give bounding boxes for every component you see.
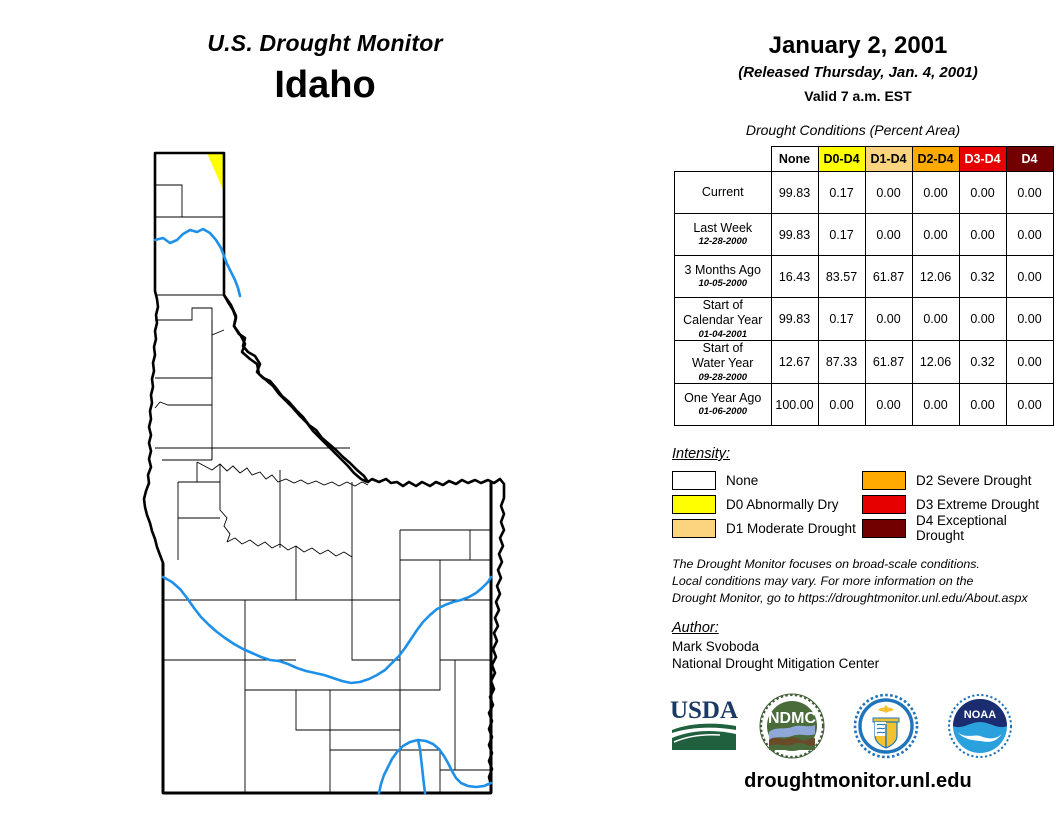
legend-swatch-d3 [862, 495, 906, 514]
drought-conditions-table: None D0-D4 D1-D4 D2-D4 D3-D4 D4 Current … [674, 146, 1054, 426]
column-header-none: None [771, 147, 818, 172]
idaho-map [100, 130, 600, 810]
legend-label: D2 Severe Drought [916, 473, 1032, 488]
legend-item-d2: D2 Severe Drought [862, 468, 1052, 492]
noaa-logo: NOAA [946, 692, 1014, 765]
row-label-text: Current [702, 185, 744, 199]
idaho-map-svg [100, 130, 600, 810]
row-label-date: 09-28-2000 [675, 372, 771, 384]
legend-column-left: None D0 Abnormally Dry D1 Moderate Droug… [672, 468, 862, 540]
disclaimer: The Drought Monitor focuses on broad-sca… [672, 556, 1052, 607]
cell-d4: 0.00 [1006, 298, 1053, 341]
ndmc-logo: NDMC [758, 692, 826, 765]
ndmc-logo-text: NDMC [768, 710, 816, 727]
cell-d4: 0.00 [1006, 384, 1053, 426]
row-label-date: 01-06-2000 [675, 406, 771, 418]
row-label-text: One Year Ago [684, 391, 761, 405]
row-label-3-months-ago: 3 Months Ago 10-05-2000 [675, 256, 772, 298]
cell-d0: 87.33 [818, 341, 865, 384]
table-row: Start ofCalendar Year 01-04-2001 99.83 0… [675, 298, 1054, 341]
intensity-legend: Intensity: None D0 Abnormally Dry D1 Mod… [672, 446, 1052, 540]
column-header-d0-d4: D0-D4 [818, 147, 865, 172]
row-label-start-of-calendar-year: Start ofCalendar Year 01-04-2001 [675, 298, 772, 341]
program-title: U.S. Drought Monitor [0, 30, 650, 57]
cell-d3: 0.00 [959, 172, 1006, 214]
cell-none: 100.00 [771, 384, 818, 426]
legend-label: D3 Extreme Drought [916, 497, 1039, 512]
legend-title: Intensity: [672, 446, 1052, 462]
county-lines [155, 185, 491, 793]
row-label-one-year-ago: One Year Ago 01-06-2000 [675, 384, 772, 426]
table-caption: Drought Conditions (Percent Area) [660, 122, 1046, 138]
legend-item-none: None [672, 468, 862, 492]
legend-column-right: D2 Severe Drought D3 Extreme Drought D4 … [862, 468, 1052, 540]
cell-d3: 0.00 [959, 384, 1006, 426]
table-row: 3 Months Ago 10-05-2000 16.43 83.57 61.8… [675, 256, 1054, 298]
table-row: Current 99.83 0.17 0.00 0.00 0.00 0.00 [675, 172, 1054, 214]
row-label-date: 12-28-2000 [675, 236, 771, 248]
table-header-row: None D0-D4 D1-D4 D2-D4 D3-D4 D4 [675, 147, 1054, 172]
cell-d1: 61.87 [865, 256, 912, 298]
table-row: One Year Ago 01-06-2000 100.00 0.00 0.00… [675, 384, 1054, 426]
website-url: droughtmonitor.unl.edu [660, 770, 1056, 793]
cell-d4: 0.00 [1006, 256, 1053, 298]
legend-swatch-d1 [672, 519, 716, 538]
cell-d2: 0.00 [912, 214, 959, 256]
row-label-date: 01-04-2001 [675, 329, 771, 341]
usda-logo-text: USDA [670, 697, 738, 724]
usda-logo: USDA [668, 692, 740, 759]
cell-d3: 0.00 [959, 214, 1006, 256]
legend-label: D4 Exceptional Drought [916, 513, 1052, 543]
table-row: Last Week 12-28-2000 99.83 0.17 0.00 0.0… [675, 214, 1054, 256]
legend-label: D1 Moderate Drought [726, 521, 856, 536]
legend-label: None [726, 473, 758, 488]
rivers [155, 229, 491, 793]
cell-d1: 0.00 [865, 214, 912, 256]
logo-row: USDA NDMC [660, 692, 1056, 764]
cell-d0: 0.17 [818, 172, 865, 214]
header-corner-blank [675, 147, 772, 172]
column-header-d2-d4: D2-D4 [912, 147, 959, 172]
legend-swatch-d0 [672, 495, 716, 514]
cell-d4: 0.00 [1006, 214, 1053, 256]
valid-time: Valid 7 a.m. EST [660, 88, 1056, 104]
disclaimer-line-3: Drought Monitor, go to https://droughtmo… [672, 590, 1052, 607]
release-date: (Released Thursday, Jan. 4, 2001) [660, 64, 1056, 81]
cell-d0: 0.00 [818, 384, 865, 426]
montana-border [224, 295, 367, 482]
cell-d3: 0.32 [959, 256, 1006, 298]
column-header-d1-d4: D1-D4 [865, 147, 912, 172]
cell-d0: 0.17 [818, 214, 865, 256]
author-heading: Author: [672, 620, 719, 636]
cell-d3: 0.00 [959, 298, 1006, 341]
report-date: January 2, 2001 [660, 32, 1056, 60]
cell-d1: 0.00 [865, 298, 912, 341]
legend-item-d0: D0 Abnormally Dry [672, 492, 862, 516]
row-label-current: Current [675, 172, 772, 214]
cell-d1: 0.00 [865, 384, 912, 426]
cell-d1: 61.87 [865, 341, 912, 384]
cell-d2: 0.00 [912, 384, 959, 426]
author-name: Mark Svoboda [672, 639, 759, 654]
drought-monitor-page: U.S. Drought Monitor Idaho [0, 0, 1056, 816]
cell-d0: 0.17 [818, 298, 865, 341]
cell-d4: 0.00 [1006, 341, 1053, 384]
disclaimer-line-1: The Drought Monitor focuses on broad-sca… [672, 556, 1052, 573]
cell-none: 12.67 [771, 341, 818, 384]
cell-d2: 0.00 [912, 298, 959, 341]
cell-none: 99.83 [771, 298, 818, 341]
legend-item-d4: D4 Exceptional Drought [862, 516, 1052, 540]
cell-none: 16.43 [771, 256, 818, 298]
cell-none: 99.83 [771, 214, 818, 256]
legend-swatch-d2 [862, 471, 906, 490]
noaa-logo-text: NOAA [964, 709, 996, 721]
disclaimer-line-2: Local conditions may vary. For more info… [672, 573, 1052, 590]
legend-item-d1: D1 Moderate Drought [672, 516, 862, 540]
drought-area-d0 [207, 153, 224, 192]
table-row: Start ofWater Year 09-28-2000 12.67 87.3… [675, 341, 1054, 384]
author-organization: National Drought Mitigation Center [672, 656, 879, 671]
row-label-start-of-water-year: Start ofWater Year 09-28-2000 [675, 341, 772, 384]
cell-d2: 0.00 [912, 172, 959, 214]
state-outline [144, 153, 504, 793]
cell-d1: 0.00 [865, 172, 912, 214]
state-title: Idaho [0, 64, 650, 107]
cell-d2: 12.06 [912, 256, 959, 298]
row-label-text: Last Week [693, 221, 752, 235]
cell-d3: 0.32 [959, 341, 1006, 384]
cell-none: 99.83 [771, 172, 818, 214]
row-label-text: Start ofWater Year [692, 341, 753, 370]
legend-swatch-d4 [862, 519, 906, 538]
column-header-d3-d4: D3-D4 [959, 147, 1006, 172]
cell-d0: 83.57 [818, 256, 865, 298]
row-label-text: 3 Months Ago [685, 263, 761, 277]
legend-swatch-none [672, 471, 716, 490]
row-label-last-week: Last Week 12-28-2000 [675, 214, 772, 256]
cell-d4: 0.00 [1006, 172, 1053, 214]
legend-label: D0 Abnormally Dry [726, 497, 839, 512]
commerce-seal-logo [852, 692, 920, 765]
cell-d2: 12.06 [912, 341, 959, 384]
row-label-date: 10-05-2000 [675, 278, 771, 290]
column-header-d4: D4 [1006, 147, 1053, 172]
row-label-text: Start ofCalendar Year [683, 298, 762, 327]
table-body: Current 99.83 0.17 0.00 0.00 0.00 0.00 L… [675, 172, 1054, 426]
